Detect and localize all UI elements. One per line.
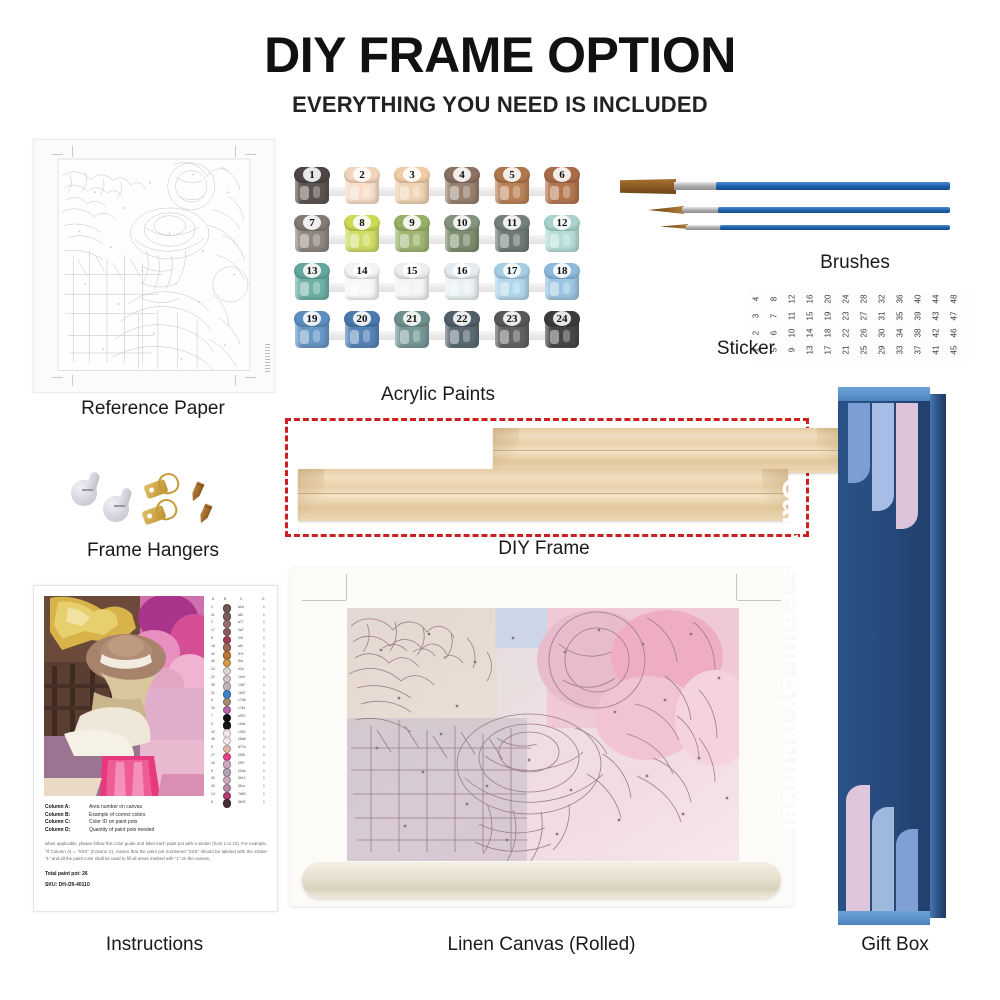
pot-highlight (563, 234, 570, 246)
crop-mark (52, 154, 63, 155)
legend-color-id: 2f97 (238, 760, 245, 768)
pot-highlight (513, 282, 520, 294)
legend-row: 147b831 (210, 791, 270, 799)
column-label: Column D: (45, 827, 89, 835)
legend-area-number: 30 (211, 775, 215, 783)
legend-quantity: 1 (263, 775, 265, 783)
paint-pot-22: 22 (442, 310, 482, 350)
sticker-number: 47 (947, 308, 963, 325)
pot-number: 13 (292, 263, 332, 279)
legend-area-number: 15 (211, 705, 215, 713)
sticker-number: 38 (911, 325, 927, 342)
legend-color-id: 13k7 (238, 682, 245, 690)
pot-highlight (300, 234, 309, 248)
legend-area-number: 6 (211, 697, 213, 705)
sticker-number: 25 (857, 342, 873, 359)
acrylic-paints-group: 123456789101112131415161718192021222324 (292, 166, 584, 356)
legend-quantity: 1 (263, 690, 265, 698)
sticker-number: 9 (785, 342, 801, 359)
legend-row: 333f1a1 (210, 783, 270, 791)
gift-box-title-line1: Canvas (776, 478, 809, 584)
paint-pot-15: 15 (392, 262, 432, 302)
sticker-column: 28272625 (856, 291, 873, 361)
legend-header-d: D (262, 596, 264, 604)
paint-pot-17: 17 (492, 262, 532, 302)
sticker-number: 10 (785, 325, 801, 342)
legend-area-number: 5 (211, 768, 213, 776)
pot-highlight (300, 186, 309, 200)
sticker-number: 22 (839, 325, 855, 342)
pot-highlight (450, 282, 459, 296)
pot-number: 3 (392, 167, 432, 183)
legend-quantity: 1 (263, 666, 265, 674)
legend-area-number: 7 (211, 713, 213, 721)
legend-color-id: 17h8 (238, 697, 246, 705)
pot-highlight (400, 330, 409, 344)
sticker-number: 42 (929, 325, 945, 342)
canvas-tick (346, 574, 347, 600)
pot-highlight (550, 330, 559, 344)
sticker-number: 31 (875, 308, 891, 325)
sticker-number: 14 (803, 325, 819, 342)
gift-box-top-band (838, 387, 930, 401)
hook-pin (114, 505, 125, 507)
legend-area-number: 8 (211, 635, 213, 643)
sticker-number: 35 (893, 308, 909, 325)
paint-strip (296, 283, 580, 292)
column-label: Column C: (45, 819, 89, 827)
paint-pot-3: 3 (392, 166, 432, 206)
pot-highlight (463, 282, 470, 294)
legend-quantity: 1 (263, 604, 265, 612)
caption-brushes: Brushes (760, 252, 950, 274)
canvas-tick (302, 600, 346, 601)
brush-ferrule (674, 182, 718, 190)
column-label: Column B: (45, 812, 89, 820)
legend-row: 52h4a1 (210, 768, 270, 776)
legend-quantity: 1 (263, 674, 265, 682)
pot-number: 20 (342, 311, 382, 327)
d-ring-hole (148, 487, 154, 493)
pot-number: 4 (442, 167, 482, 183)
pot-highlight (313, 330, 320, 342)
legend-color-id: a77 (238, 619, 244, 627)
legend-color-id: a8l (238, 643, 243, 651)
legend-area-number: 1 (211, 604, 213, 612)
pot-highlight (400, 282, 409, 296)
accent-shape (848, 403, 870, 483)
legend-area-number: 42 (211, 729, 215, 737)
pot-number: 6 (542, 167, 582, 183)
paint-pot-9: 9 (392, 214, 432, 254)
brush-bristles (620, 179, 676, 194)
pot-highlight (363, 186, 370, 198)
canvas-printed-lineart (347, 608, 739, 861)
sticker-number: 23 (839, 308, 855, 325)
sticker-sheet: 4321876512111091615141320191817242322212… (748, 291, 970, 361)
paint-pot-16: 16 (442, 262, 482, 302)
legend-row: 4087e1 (210, 651, 270, 659)
paint-pot-10: 10 (442, 214, 482, 254)
pot-highlight (500, 330, 509, 344)
page-title: DIY FRAME OPTION (0, 26, 1000, 84)
legend-color-id: 877a (238, 744, 246, 752)
pot-highlight (450, 330, 459, 344)
legend-area-number: 46 (211, 658, 215, 666)
pot-highlight (363, 282, 370, 294)
sticker-number: 29 (875, 342, 891, 359)
page-subtitle: EVERYTHING YOU NEED IS INCLUDED (0, 92, 1000, 118)
legend-color-id: a2a (238, 604, 244, 612)
pot-highlight (350, 186, 359, 200)
sticker-number: 19 (821, 308, 837, 325)
sticker-number: 41 (929, 342, 945, 359)
brush-ferrule (682, 207, 720, 213)
legend-quantity: 1 (263, 658, 265, 666)
paint-pot-18: 18 (542, 262, 582, 302)
legend-area-number: 21 (211, 690, 215, 698)
sticker-number: 26 (857, 325, 873, 342)
legend-row: 174a71 (210, 627, 270, 635)
sticker-number: 30 (875, 325, 891, 342)
paint-strip (296, 331, 580, 340)
legend-quantity: 1 (263, 752, 265, 760)
legend-quantity: 1 (263, 643, 265, 651)
sticker-column: 20191817 (820, 291, 837, 361)
pot-number: 7 (292, 215, 332, 231)
brushes-group (620, 170, 950, 250)
legend-color-id: 87e (238, 651, 244, 659)
pot-highlight (413, 186, 420, 198)
sticker-number: 11 (785, 308, 801, 325)
legend-row: 2a771 (210, 619, 270, 627)
legend-row: 24h2h1 (210, 666, 270, 674)
pot-highlight (500, 186, 509, 200)
legend-color-id: 2f38 (238, 752, 245, 760)
legend-row: 272f381 (210, 752, 270, 760)
legend-color-id: 3b13 (238, 775, 246, 783)
legend-quantity: 1 (263, 783, 265, 791)
sku-code: SKU: DH-/29-40110 (45, 881, 267, 890)
legend-area-number: 33 (211, 783, 215, 791)
legend-quantity: 1 (263, 619, 265, 627)
legend-header-c: C (240, 596, 242, 604)
sticker-column: 32313029 (874, 291, 891, 361)
sticker-column: 48474645 (946, 291, 963, 361)
canvas-tick (736, 574, 737, 600)
legend-color-id: 3f1a (238, 783, 245, 791)
pot-highlight (350, 282, 359, 296)
pot-highlight (463, 330, 470, 342)
legend-header-row: ABCD (210, 596, 270, 604)
legend-color-id: 4r5 (238, 635, 243, 643)
canvas-roll (302, 862, 781, 898)
sticker-number: 16 (803, 291, 819, 308)
legend-color-id: f0a (238, 658, 243, 666)
sticker-number: 4 (749, 291, 765, 308)
legend-color-id: 1902 (238, 729, 246, 737)
sticker-number: 7 (767, 308, 783, 325)
legend-quantity: 1 (263, 713, 265, 721)
instructions-color-legend: ABCD1a2a141a8l12a771174a7184r5118a8l1408… (210, 596, 270, 808)
accent-shape (872, 403, 894, 511)
sticker-column: 36353433 (892, 291, 909, 361)
caption-acrylic-paints: Acrylic Paints (292, 384, 584, 406)
column-line: Column D:Quantity of paint pots needed (45, 827, 267, 835)
sticker-number: 3 (749, 308, 765, 325)
gift-box-bottom-band (838, 911, 930, 925)
gift-box-side (930, 394, 946, 918)
instructions-blurb: when applicable, please follow this colo… (45, 840, 267, 862)
paint-pot-4: 4 (442, 166, 482, 206)
legend-color-id: a8l (238, 612, 243, 620)
paint-strip (296, 187, 580, 196)
pot-number: 24 (542, 311, 582, 327)
paint-pot-13: 13 (292, 262, 332, 302)
sticker-number: 20 (821, 291, 837, 308)
pot-highlight (413, 234, 420, 246)
legend-quantity: 1 (263, 627, 265, 635)
gift-box-title: Canvas Paint By Number (746, 387, 838, 925)
sticker-number: 48 (947, 291, 963, 308)
legend-color-id: 25a6 (238, 736, 246, 744)
artwork-svg (44, 596, 204, 796)
caption-reference-paper: Reference Paper (33, 398, 273, 420)
legend-area-number: 2 (211, 619, 213, 627)
pot-highlight (350, 234, 359, 248)
pot-number: 1 (292, 167, 332, 183)
crop-mark (72, 146, 73, 157)
legend-quantity: 1 (263, 729, 265, 737)
pot-number: 2 (342, 167, 382, 183)
legend-row: 31h4k1 (210, 721, 270, 729)
caption-diy-frame: DIY Frame (285, 538, 803, 560)
pot-highlight (563, 330, 570, 342)
pot-highlight (463, 186, 470, 198)
instructions-text-block: Column A:Area number on canvas Column B:… (45, 804, 267, 890)
paint-pot-23: 23 (492, 310, 532, 350)
paint-row (292, 166, 584, 206)
legend-area-number: 35 (211, 682, 215, 690)
legend-color-id: 1b07 (238, 690, 246, 698)
legend-row: 211b071 (210, 690, 270, 698)
legend-row: 4525a61 (210, 736, 270, 744)
diy-frame-highlight-box (285, 418, 809, 537)
paint-pot-7: 7 (292, 214, 332, 254)
legend-area-number: 45 (211, 736, 215, 744)
crop-mark (245, 154, 256, 155)
pot-highlight (313, 186, 320, 198)
sticker-number: 18 (821, 325, 837, 342)
legend-area-number: 9 (211, 744, 213, 752)
total-paint-pot: Total paint pot: 26 (45, 870, 267, 879)
pot-number: 19 (292, 311, 332, 327)
legend-color-id: 17ks (238, 705, 245, 713)
accent-shape (872, 807, 894, 911)
column-text: Color ID on paint pots (89, 819, 137, 825)
pot-number: 23 (492, 311, 532, 327)
paint-pot-1: 1 (292, 166, 332, 206)
gift-box: Canvas Paint By Number (838, 387, 946, 925)
accent-shape (846, 785, 870, 911)
paint-pot-8: 8 (342, 214, 382, 254)
pot-highlight (413, 282, 420, 294)
sticker-column: 44434241 (928, 291, 945, 361)
legend-color-id: 1h4f (238, 674, 245, 682)
d-ring-hole (146, 513, 152, 519)
caption-gift-box: Gift Box (820, 934, 970, 956)
paint-pot-14: 14 (342, 262, 382, 302)
legend-row: 221h4f1 (210, 674, 270, 682)
brass-screw (197, 503, 212, 525)
gift-box-front: Canvas Paint By Number (838, 387, 930, 925)
pot-highlight (513, 234, 520, 246)
sticker-number: 13 (803, 342, 819, 359)
sticker-number: 43 (929, 308, 945, 325)
legend-area-number: 27 (211, 752, 215, 760)
pot-number: 22 (442, 311, 482, 327)
lineart-svg (56, 157, 252, 373)
crop-mark (235, 146, 236, 157)
legend-color-id: s970 (238, 713, 245, 721)
pot-number: 21 (392, 311, 432, 327)
legend-header-a: A (212, 596, 214, 604)
pot-highlight (400, 234, 409, 248)
crop-mark (52, 377, 63, 378)
legend-row: 46f0a1 (210, 658, 270, 666)
legend-row: 1a2a1 (210, 604, 270, 612)
column-text: Quantity of paint pots needed (89, 827, 154, 833)
pot-highlight (563, 282, 570, 294)
sticker-number: 24 (839, 291, 855, 308)
pot-highlight (500, 234, 509, 248)
sticker-number: 8 (767, 291, 783, 308)
pot-number: 9 (392, 215, 432, 231)
pot-highlight (500, 282, 509, 296)
sticker-number: 12 (785, 291, 801, 308)
pot-highlight (313, 234, 320, 246)
paint-pot-6: 6 (542, 166, 582, 206)
crop-mark (72, 375, 73, 386)
legend-area-number: 17 (211, 627, 215, 635)
legend-row: 162f971 (210, 760, 270, 768)
sticker-number: 27 (857, 308, 873, 325)
sticker-number: 28 (857, 291, 873, 308)
sticker-number: 21 (839, 342, 855, 359)
sticker-column: 16151413 (802, 291, 819, 361)
linen-canvas-rolled (290, 568, 793, 906)
sticker-number: 17 (821, 342, 837, 359)
sticker-number: 36 (893, 291, 909, 308)
sticker-number: 33 (893, 342, 909, 359)
pot-highlight (450, 186, 459, 200)
legend-color-id: 1h4k (238, 721, 245, 729)
paint-row (292, 214, 584, 254)
pot-highlight (413, 330, 420, 342)
pot-number: 16 (442, 263, 482, 279)
sticker-number: 34 (893, 325, 909, 342)
paint-pot-19: 19 (292, 310, 332, 350)
legend-quantity: 1 (263, 635, 265, 643)
pot-highlight (450, 234, 459, 248)
crop-mark (245, 377, 256, 378)
pot-highlight (513, 186, 520, 198)
legend-area-number: 22 (211, 674, 215, 682)
pot-number: 17 (492, 263, 532, 279)
legend-area-number: 40 (211, 651, 215, 659)
legend-row: 18a8l1 (210, 643, 270, 651)
legend-area-number: 41 (211, 612, 215, 620)
reference-paper-lineart (56, 157, 252, 375)
paint-pot-2: 2 (342, 166, 382, 206)
column-line: Column B:Example of correct colors (45, 812, 267, 820)
sticker-column: 40393837 (910, 291, 927, 361)
legend-quantity: 1 (263, 791, 265, 799)
sticker-number: 32 (875, 291, 891, 308)
legend-row: 84r51 (210, 635, 270, 643)
caption-linen-canvas: Linen Canvas (Rolled) (290, 934, 793, 956)
frame-hangers-group (65, 470, 240, 532)
brush-ferrule (686, 225, 722, 230)
pot-highlight (313, 282, 320, 294)
pot-highlight (463, 234, 470, 246)
legend-color-id: 4a7 (238, 627, 244, 635)
paint-pot-12: 12 (542, 214, 582, 254)
sticker-number: 37 (911, 342, 927, 359)
legend-quantity: 1 (263, 612, 265, 620)
legend-row: 4219021 (210, 729, 270, 737)
pot-highlight (300, 330, 309, 344)
pot-highlight (363, 330, 370, 342)
brush-bristles (648, 206, 684, 214)
caption-instructions: Instructions (33, 934, 276, 956)
legend-row: 3513k71 (210, 682, 270, 690)
paint-pot-20: 20 (342, 310, 382, 350)
caption-sticker: Sticker (655, 338, 775, 360)
column-text: Area number on canvas (89, 804, 142, 810)
brush-handle (718, 207, 950, 213)
accent-shape (896, 829, 918, 911)
pot-number: 12 (542, 215, 582, 231)
legend-quantity: 1 (263, 705, 265, 713)
pot-number: 18 (542, 263, 582, 279)
paint-pot-11: 11 (492, 214, 532, 254)
paint-row (292, 262, 584, 302)
pot-number: 8 (342, 215, 382, 231)
pot-number: 10 (442, 215, 482, 231)
sticker-column: 1211109 (784, 291, 801, 361)
pot-number: 5 (492, 167, 532, 183)
paint-pot-5: 5 (492, 166, 532, 206)
legend-row: 41a8l1 (210, 612, 270, 620)
pot-highlight (550, 186, 559, 200)
legend-color-id: 7b83 (238, 791, 246, 799)
brush-handle (720, 225, 950, 230)
legend-area-number: 24 (211, 666, 215, 674)
sticker-number: 15 (803, 308, 819, 325)
pot-highlight (363, 234, 370, 246)
legend-color-id: 2h4a (238, 768, 246, 776)
legend-area-number: 3 (211, 721, 213, 729)
accent-shape (896, 403, 918, 529)
pot-highlight (563, 186, 570, 198)
paint-pot-21: 21 (392, 310, 432, 350)
instructions-card: ABCD1a2a141a8l12a771174a7184r5118a8l1408… (33, 585, 278, 912)
sticker-number: 46 (947, 325, 963, 342)
instructions-artwork (44, 596, 204, 796)
column-line: Column A:Area number on canvas (45, 804, 267, 812)
sticker-number: 44 (929, 291, 945, 308)
